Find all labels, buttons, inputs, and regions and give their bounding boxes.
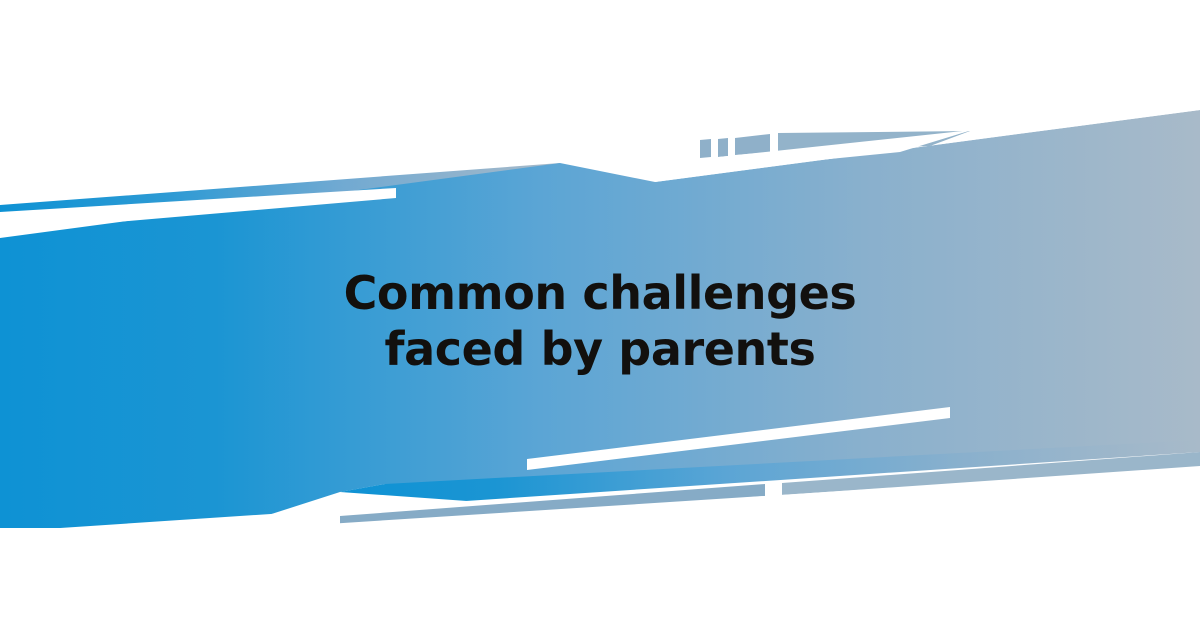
top-dash-segment-3 — [735, 134, 770, 155]
top-dash-segment-2 — [718, 138, 728, 157]
top-dash-segment-1 — [700, 139, 711, 158]
banner-decorative-artwork — [0, 0, 1200, 630]
banner-canvas: Common challenges faced by parents — [0, 0, 1200, 630]
